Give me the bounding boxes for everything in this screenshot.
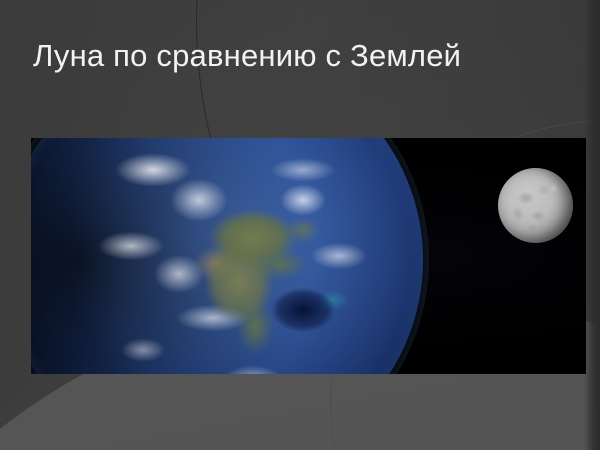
earth-image [31, 138, 423, 374]
presentation-slide: Луна по сравнению с Землей [0, 0, 600, 450]
moon-image [498, 168, 573, 243]
background-right-band [584, 0, 600, 450]
slide-image-earth-and-moon [31, 138, 586, 374]
slide-title: Луна по сравнению с Землей [33, 36, 573, 76]
